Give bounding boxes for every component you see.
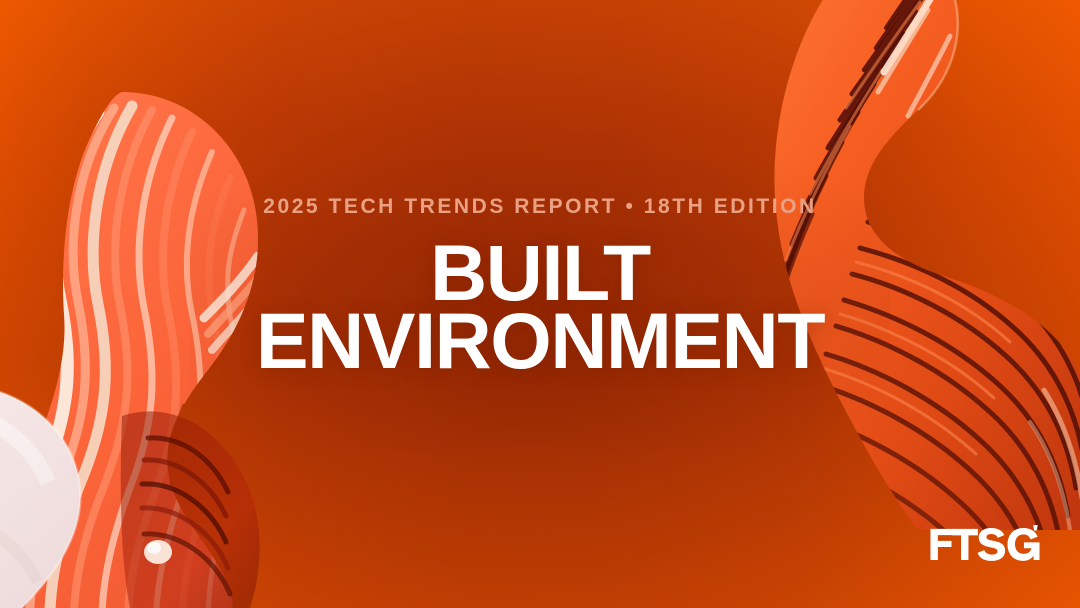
report-cover-slide: 2025 TECH TRENDS REPORT • 18TH EDITION B… [0, 0, 1080, 608]
ftsg-logo[interactable] [930, 525, 1040, 562]
report-eyebrow: 2025 TECH TRENDS REPORT • 18TH EDITION [0, 196, 1080, 217]
page-title-line-2: ENVIRONMENT [0, 307, 1080, 375]
cover-text-block: 2025 TECH TRENDS REPORT • 18TH EDITION B… [0, 196, 1080, 374]
page-title: BUILT ENVIRONMENT [0, 239, 1080, 374]
